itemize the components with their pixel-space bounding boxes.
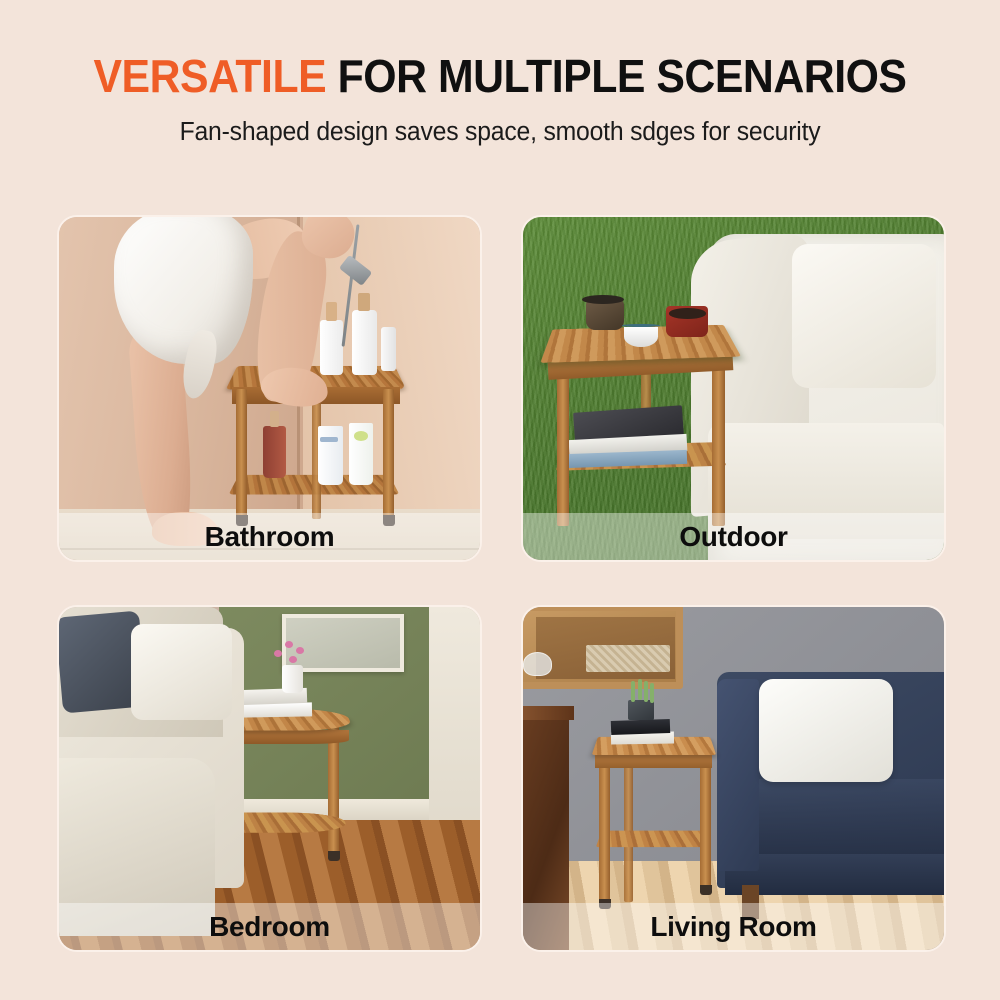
header-block: VERSATILE FOR MULTIPLE SCENARIOS Fan-sha… bbox=[0, 0, 1000, 147]
living-book-upper bbox=[611, 719, 670, 735]
pump-bottle-right bbox=[352, 310, 377, 375]
scenario-card-living-room[interactable]: Living Room bbox=[521, 605, 946, 952]
card-label-outdoor: Outdoor bbox=[523, 513, 944, 560]
page-title: VERSATILE FOR MULTIPLE SCENARIOS bbox=[35, 52, 965, 101]
bedroom-table-foot-right bbox=[328, 851, 340, 861]
living-table-apron bbox=[595, 754, 713, 768]
bathroom-photo bbox=[59, 217, 480, 560]
living-room-photo bbox=[523, 607, 944, 950]
page-subtitle: Fan-shaped design saves space, smooth sd… bbox=[15, 118, 985, 147]
outdoor-table-leg-right bbox=[712, 354, 725, 526]
dark-wood-cabinet-top bbox=[523, 706, 574, 720]
white-bed-pillow bbox=[131, 624, 232, 720]
card-label-bathroom: Bathroom bbox=[59, 513, 480, 560]
pump-bottle-left bbox=[320, 320, 343, 375]
small-bottle bbox=[381, 327, 396, 372]
amber-soap-bottle bbox=[263, 426, 286, 477]
white-bowl bbox=[624, 327, 658, 348]
stool-leg-right bbox=[383, 389, 394, 519]
pink-flowers bbox=[274, 641, 312, 668]
living-table-leg-right bbox=[700, 751, 711, 888]
scenario-card-outdoor[interactable]: Outdoor bbox=[521, 215, 946, 562]
title-rest-words: FOR MULTIPLE SCENARIOS bbox=[338, 50, 907, 102]
stool-leg-left bbox=[236, 389, 247, 519]
lotion-tube-green bbox=[349, 423, 373, 485]
outdoor-table-leg-left bbox=[557, 361, 570, 526]
card-label-bedroom: Bedroom bbox=[59, 903, 480, 950]
navy-sofa-arm bbox=[717, 679, 759, 871]
scenario-card-grid: Bathroom Outdoor bbox=[57, 215, 946, 952]
white-sofa-pillow bbox=[759, 679, 894, 782]
teapot bbox=[586, 299, 624, 330]
woven-basket bbox=[586, 645, 670, 672]
outdoor-photo bbox=[523, 217, 944, 560]
living-table-lower-shelf bbox=[596, 831, 712, 847]
succulent-plant bbox=[628, 679, 657, 703]
red-coffee-mug bbox=[666, 306, 708, 337]
title-accent-word: VERSATILE bbox=[93, 50, 326, 102]
living-table-foot-right bbox=[700, 885, 712, 895]
white-flower-vase bbox=[282, 665, 303, 692]
living-table-leg-left bbox=[599, 758, 610, 902]
bedroom-photo bbox=[59, 607, 480, 950]
scenario-card-bedroom[interactable]: Bedroom bbox=[57, 605, 482, 952]
lotion-tube-blue bbox=[318, 426, 343, 484]
glass-teapot bbox=[523, 652, 552, 676]
card-label-living-room: Living Room bbox=[523, 903, 944, 950]
outdoor-sofa-cushion bbox=[792, 244, 935, 388]
scenario-card-bathroom[interactable]: Bathroom bbox=[57, 215, 482, 562]
